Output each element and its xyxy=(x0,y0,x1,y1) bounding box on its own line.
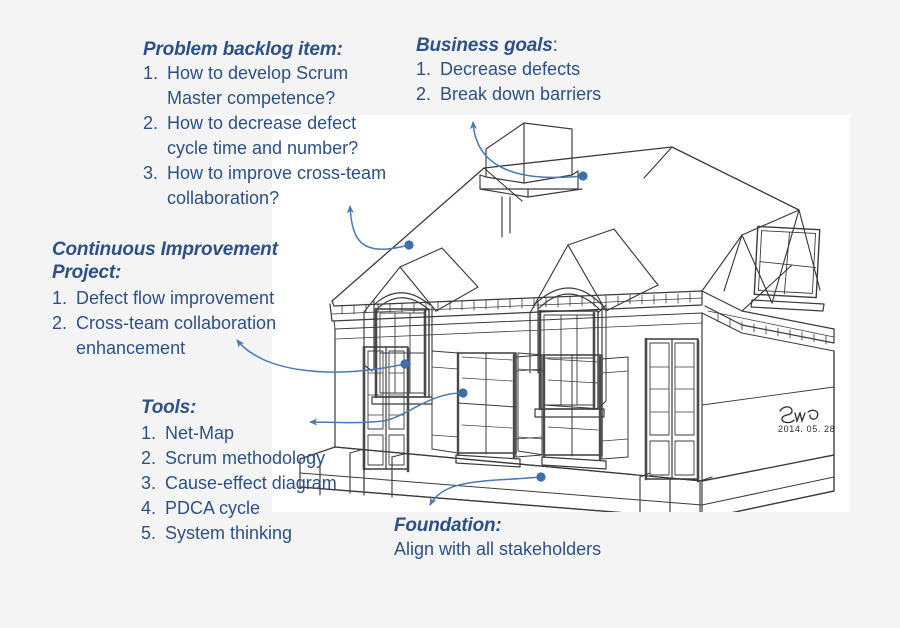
list-item-number: 1. xyxy=(416,57,440,82)
list-item-number: 2. xyxy=(52,311,76,336)
tools-list: 1. Net-Map 2. Scrum methodology 3. Cause… xyxy=(141,421,391,546)
list-item: 2. Break down barriers xyxy=(416,82,666,107)
signature-date: 2014. 05. 28 xyxy=(778,424,835,434)
problem-backlog-block: Problem backlog item: 1. How to develop … xyxy=(143,38,413,211)
tools-heading: Tools: xyxy=(141,396,391,419)
business-goals-heading-text: Business goals xyxy=(416,35,553,56)
list-item-text: Break down barriers xyxy=(440,82,666,107)
improvement-project-list: 1. Defect flow improvement 2. Cross-team… xyxy=(52,286,330,361)
list-item: 2. How to decrease defect cycle time and… xyxy=(143,111,413,161)
business-goals-list: 1. Decrease defects 2. Break down barrie… xyxy=(416,57,666,107)
list-item-text: Scrum methodology xyxy=(165,446,391,471)
list-item-number: 2. xyxy=(416,82,440,107)
list-item-text: Defect flow improvement xyxy=(76,286,330,311)
list-item-text: Cross-team collaboration enhancement xyxy=(76,311,330,361)
business-goals-block: Business goals: 1. Decrease defects 2. B… xyxy=(416,34,666,107)
list-item-text: How to develop Scrum Master competence? xyxy=(167,61,399,111)
tools-block: Tools: 1. Net-Map 2. Scrum methodology 3… xyxy=(141,396,391,546)
list-item-number: 1. xyxy=(143,61,167,86)
list-item-text: How to improve cross-team collaboration? xyxy=(167,161,399,211)
list-item-text: PDCA cycle xyxy=(165,496,391,521)
business-goals-heading: Business goals: xyxy=(416,34,666,57)
list-item: 3. Cause-effect diagram xyxy=(141,471,391,496)
list-item-number: 3. xyxy=(141,471,165,496)
problem-backlog-heading: Problem backlog item: xyxy=(143,38,413,61)
list-item-text: Net-Map xyxy=(165,421,391,446)
artist-signature: 2014. 05. 28 xyxy=(778,407,835,434)
list-item-number: 1. xyxy=(52,286,76,311)
list-item-text: Cause-effect diagram xyxy=(165,471,391,496)
list-item: 4. PDCA cycle xyxy=(141,496,391,521)
figure-canvas: 2014. 05. 28 xyxy=(0,0,900,628)
list-item: 3. How to improve cross-team collaborati… xyxy=(143,161,413,211)
list-item-number: 3. xyxy=(143,161,167,186)
list-item: 1. Net-Map xyxy=(141,421,391,446)
list-item: 1. Defect flow improvement xyxy=(52,286,330,311)
list-item: 5. System thinking xyxy=(141,521,391,546)
foundation-heading: Foundation: xyxy=(394,514,674,537)
list-item: 1. How to develop Scrum Master competenc… xyxy=(143,61,413,111)
list-item-number: 4. xyxy=(141,496,165,521)
foundation-block: Foundation: Align with all stakeholders xyxy=(394,514,674,562)
list-item-number: 1. xyxy=(141,421,165,446)
list-item-number: 5. xyxy=(141,521,165,546)
improvement-project-block: Continuous Improvement Project: 1. Defec… xyxy=(52,238,330,361)
list-item-text: System thinking xyxy=(165,521,391,546)
list-item: 2. Cross-team collaboration enhancement xyxy=(52,311,330,361)
list-item: 1. Decrease defects xyxy=(416,57,666,82)
improvement-project-heading: Continuous Improvement Project: xyxy=(52,238,320,284)
list-item-number: 2. xyxy=(141,446,165,471)
business-goals-heading-colon: : xyxy=(553,35,558,56)
problem-backlog-list: 1. How to develop Scrum Master competenc… xyxy=(143,61,413,211)
list-item-text: How to decrease defect cycle time and nu… xyxy=(167,111,399,161)
list-item-text: Decrease defects xyxy=(440,57,666,82)
list-item: 2. Scrum methodology xyxy=(141,446,391,471)
list-item-number: 2. xyxy=(143,111,167,136)
foundation-body: Align with all stakeholders xyxy=(394,537,674,562)
